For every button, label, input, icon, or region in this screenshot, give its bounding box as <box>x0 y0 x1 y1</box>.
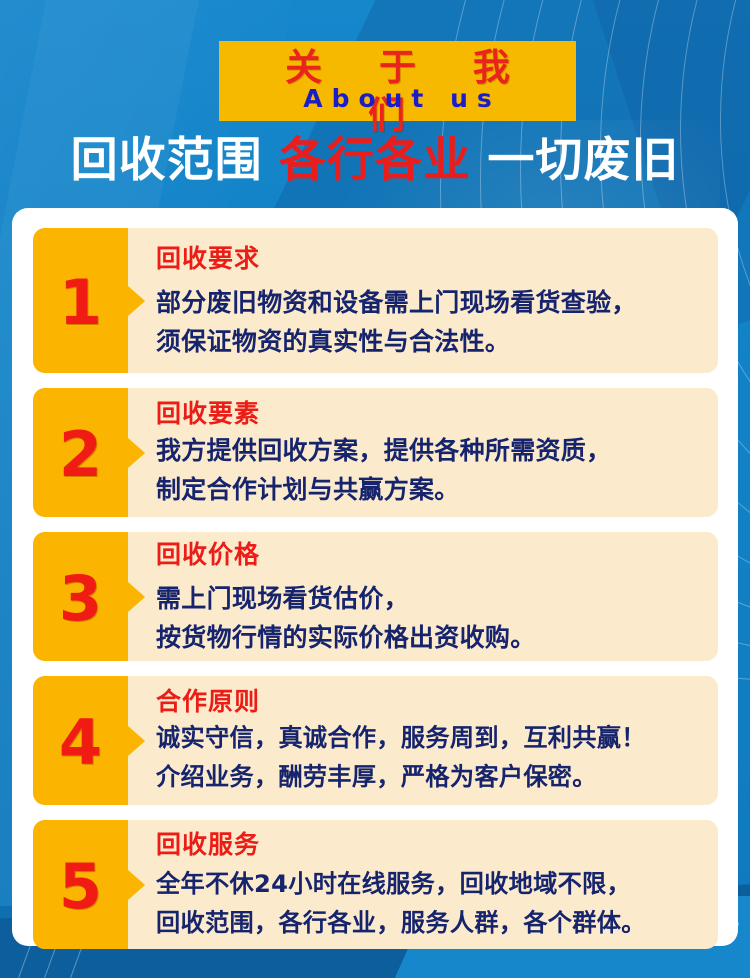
info-card-3: 3 回收价格 需上门现场看货估价， 按货物行情的实际价格出资收购。 <box>33 532 718 661</box>
card-heading-4: 合作原则 <box>156 686 704 717</box>
about-us-banner: 关 于 我 们 About us <box>219 41 576 121</box>
page-header: 关 于 我 们 About us 回收范围 各行各业 一切废旧 <box>0 0 750 205</box>
page-title-part-2: 各行各业 <box>279 133 471 188</box>
card-arrow-icon-5 <box>128 870 145 900</box>
card-number-4: 4 <box>59 712 102 774</box>
card-line-4-1: 诚实守信，真诚合作，服务周到，互利共赢！ <box>156 719 704 758</box>
card-number-badge-1: 1 <box>33 228 128 373</box>
info-card-2: 2 回收要素 我方提供回收方案，提供各种所需资质， 制定合作计划与共赢方案。 <box>33 388 718 517</box>
card-arrow-icon-3 <box>128 582 145 612</box>
card-number-2: 2 <box>59 424 102 486</box>
card-number-badge-2: 2 <box>33 388 128 517</box>
page-title-part-3: 一切废旧 <box>487 133 679 188</box>
info-card-5: 5 回收服务 全年不休24小时在线服务，回收地域不限， 回收范围，各行各业，服务… <box>33 820 718 949</box>
info-card-4: 4 合作原则 诚实守信，真诚合作，服务周到，互利共赢！ 介绍业务，酬劳丰厚，严格… <box>33 676 718 805</box>
card-heading-2: 回收要素 <box>156 398 704 429</box>
card-line-2-2: 制定合作计划与共赢方案。 <box>156 470 704 509</box>
card-number-badge-3: 3 <box>33 532 128 661</box>
card-heading-5: 回收服务 <box>156 829 704 860</box>
info-card-panel: 1 回收要求 部分废旧物资和设备需上门现场看货查验， 须保证物资的真实性与合法性… <box>12 208 738 946</box>
card-line-1-1: 部分废旧物资和设备需上门现场看货查验， <box>156 283 704 322</box>
card-number-1: 1 <box>59 272 102 334</box>
card-arrow-icon-2 <box>128 438 145 468</box>
page-title-part-1: 回收范围 <box>71 133 263 188</box>
card-content-1: 回收要求 部分废旧物资和设备需上门现场看货查验， 须保证物资的真实性与合法性。 <box>156 228 704 373</box>
card-content-3: 回收价格 需上门现场看货估价， 按货物行情的实际价格出资收购。 <box>156 532 704 661</box>
card-heading-1: 回收要求 <box>156 243 704 274</box>
about-title-english: About us <box>219 82 576 116</box>
card-content-5: 回收服务 全年不休24小时在线服务，回收地域不限， 回收范围，各行各业，服务人群… <box>156 820 704 949</box>
info-card-1: 1 回收要求 部分废旧物资和设备需上门现场看货查验， 须保证物资的真实性与合法性… <box>33 228 718 373</box>
card-number-badge-5: 5 <box>33 820 128 949</box>
card-line-1-2: 须保证物资的真实性与合法性。 <box>156 322 704 361</box>
card-line-4-2: 介绍业务，酬劳丰厚，严格为客户保密。 <box>156 758 704 797</box>
card-content-2: 回收要素 我方提供回收方案，提供各种所需资质， 制定合作计划与共赢方案。 <box>156 388 704 517</box>
card-arrow-icon-1 <box>128 286 145 316</box>
card-number-badge-4: 4 <box>33 676 128 805</box>
card-number-3: 3 <box>59 568 102 630</box>
card-line-3-2: 按货物行情的实际价格出资收购。 <box>156 618 704 657</box>
card-line-5-2: 回收范围，各行各业，服务人群，各个群体。 <box>156 904 704 943</box>
card-content-4: 合作原则 诚实守信，真诚合作，服务周到，互利共赢！ 介绍业务，酬劳丰厚，严格为客… <box>156 676 704 805</box>
card-number-5: 5 <box>59 856 102 918</box>
card-heading-3: 回收价格 <box>156 539 704 570</box>
card-line-5-1: 全年不休24小时在线服务，回收地域不限， <box>156 865 704 904</box>
card-line-3-1: 需上门现场看货估价， <box>156 579 704 618</box>
page-title: 回收范围 各行各业 一切废旧 <box>0 128 750 194</box>
card-line-2-1: 我方提供回收方案，提供各种所需资质， <box>156 431 704 470</box>
card-arrow-icon-4 <box>128 726 145 756</box>
